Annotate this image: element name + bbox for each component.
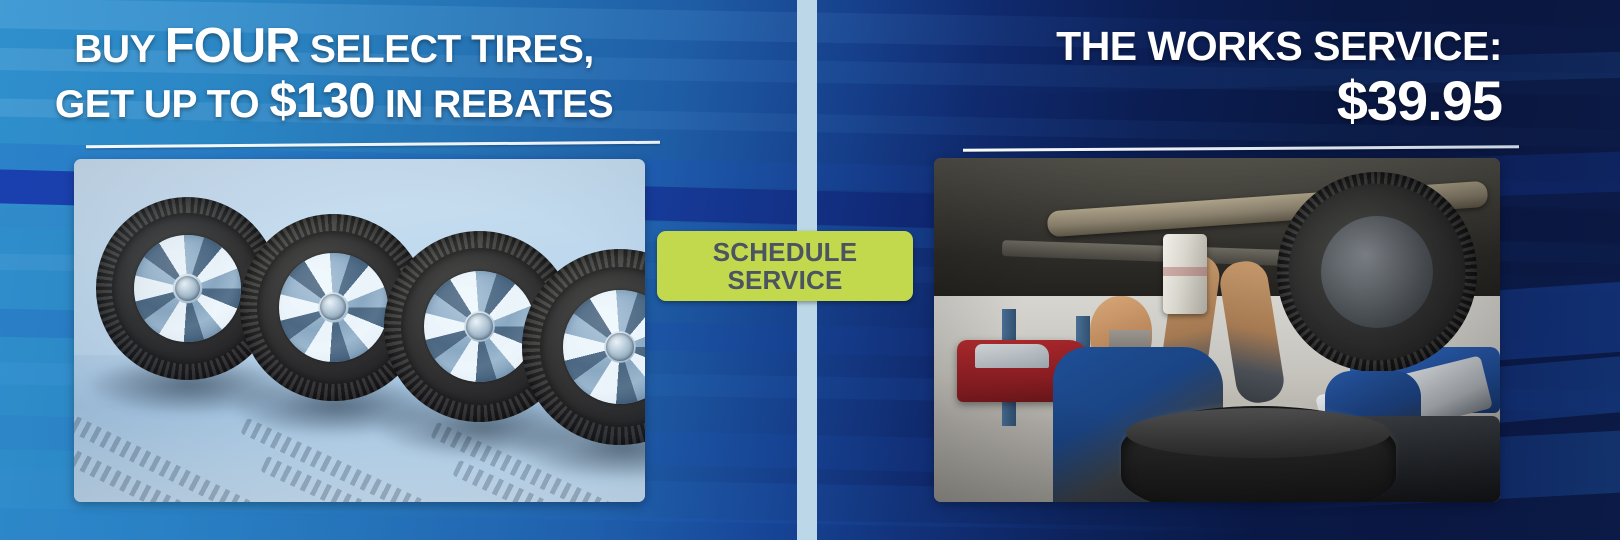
left-headline-line2-suffix: IN REBATES bbox=[374, 83, 613, 126]
cta-label-line1: SCHEDULE bbox=[713, 238, 858, 266]
right-offer-headline: THE WORKS SERVICE: $39.95 bbox=[1056, 26, 1502, 129]
service-bay-scene bbox=[934, 158, 1500, 502]
works-service-image bbox=[934, 158, 1500, 502]
left-headline-suffix: SELECT TIRES, bbox=[300, 28, 594, 71]
works-vignette bbox=[934, 158, 1500, 502]
right-headline-service-name: THE WORKS SERVICE: bbox=[1056, 26, 1502, 67]
left-headline-quantity: FOUR bbox=[165, 19, 300, 73]
tires-vignette bbox=[74, 159, 645, 502]
service-offers-banner: BUY FOUR SELECT TIRES, GET UP TO $130 IN… bbox=[0, 0, 1620, 540]
left-headline-line2-prefix: GET UP TO bbox=[55, 83, 270, 126]
left-headline-rebate-amount: $130 bbox=[269, 74, 374, 128]
tires-promo-image bbox=[74, 159, 645, 502]
left-headline-prefix: BUY bbox=[74, 28, 164, 71]
schedule-service-button[interactable]: SCHEDULE SERVICE bbox=[657, 231, 913, 301]
cta-label-line2: SERVICE bbox=[727, 266, 842, 294]
right-headline-price: $39.95 bbox=[1056, 73, 1502, 129]
left-offer-headline: BUY FOUR SELECT TIRES, GET UP TO $130 IN… bbox=[0, 22, 668, 126]
